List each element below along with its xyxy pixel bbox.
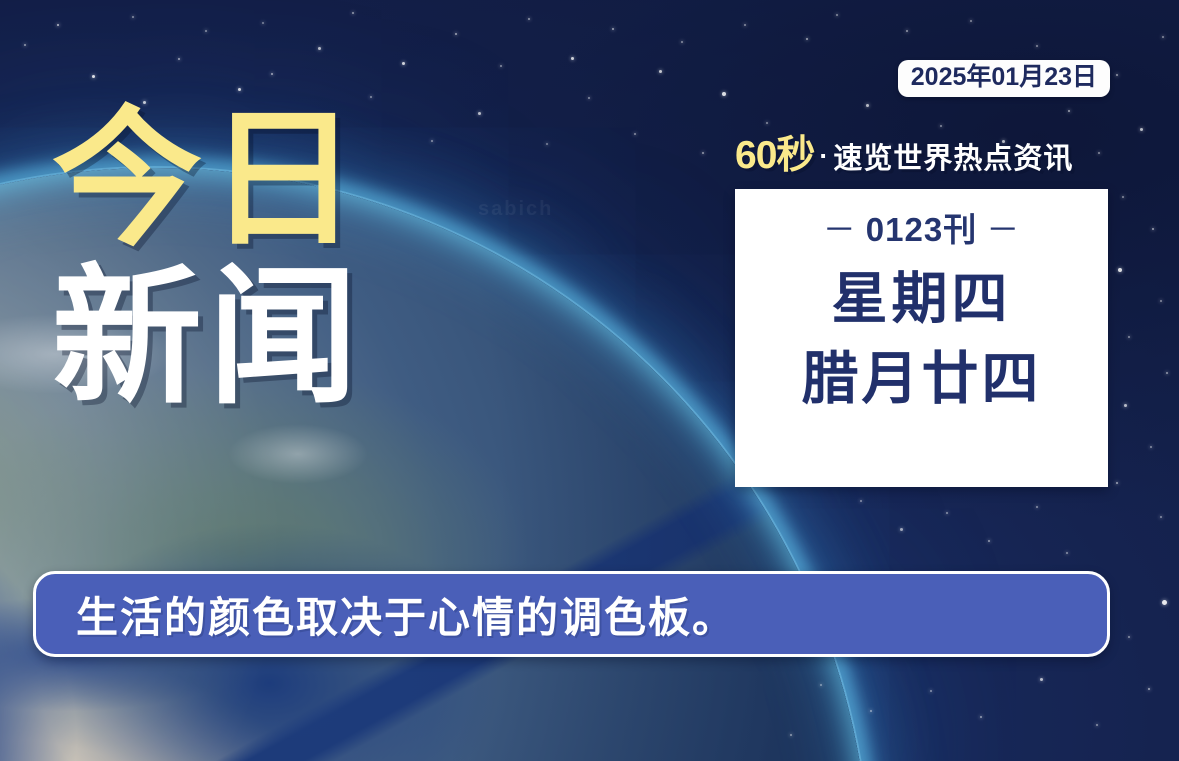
- tagline-separator-dot: ·: [814, 141, 833, 172]
- tagline: 60秒 · 速览世界热点资讯: [735, 124, 1110, 180]
- title-line-today: 今日: [52, 96, 364, 264]
- issue-dash-right: －: [977, 211, 1029, 248]
- tagline-seconds: 60秒: [735, 124, 814, 180]
- right-info-panel: 2025年01月23日 60秒 · 速览世界热点资讯 －0123刊－ 星期四 腊…: [735, 60, 1110, 487]
- issue-dash-left: －: [814, 211, 866, 248]
- background-watermark: sabich: [478, 198, 553, 221]
- weekday-label: 星期四: [832, 271, 1012, 327]
- news-card-canvas: sabich 今日 新闻 2025年01月23日 60秒 · 速览世界热点资讯 …: [0, 0, 1179, 761]
- tagline-subtitle: 速览世界热点资讯: [833, 135, 1073, 177]
- issue-info-card: －0123刊－ 星期四 腊月廿四: [735, 189, 1108, 487]
- daily-quote-bar: 生活的颜色取决于心情的调色板。: [33, 571, 1110, 657]
- issue-number: 0123刊: [866, 211, 977, 248]
- title-line-news: 新闻: [52, 254, 364, 422]
- lunar-date-label: 腊月廿四: [802, 351, 1042, 408]
- date-badge: 2025年01月23日: [898, 60, 1110, 97]
- daily-quote-text: 生活的颜色取决于心情的调色板。: [36, 584, 736, 645]
- issue-number-row: －0123刊－: [814, 203, 1029, 251]
- page-title: 今日 新闻: [52, 96, 364, 422]
- date-badge-row: 2025年01月23日: [735, 60, 1110, 97]
